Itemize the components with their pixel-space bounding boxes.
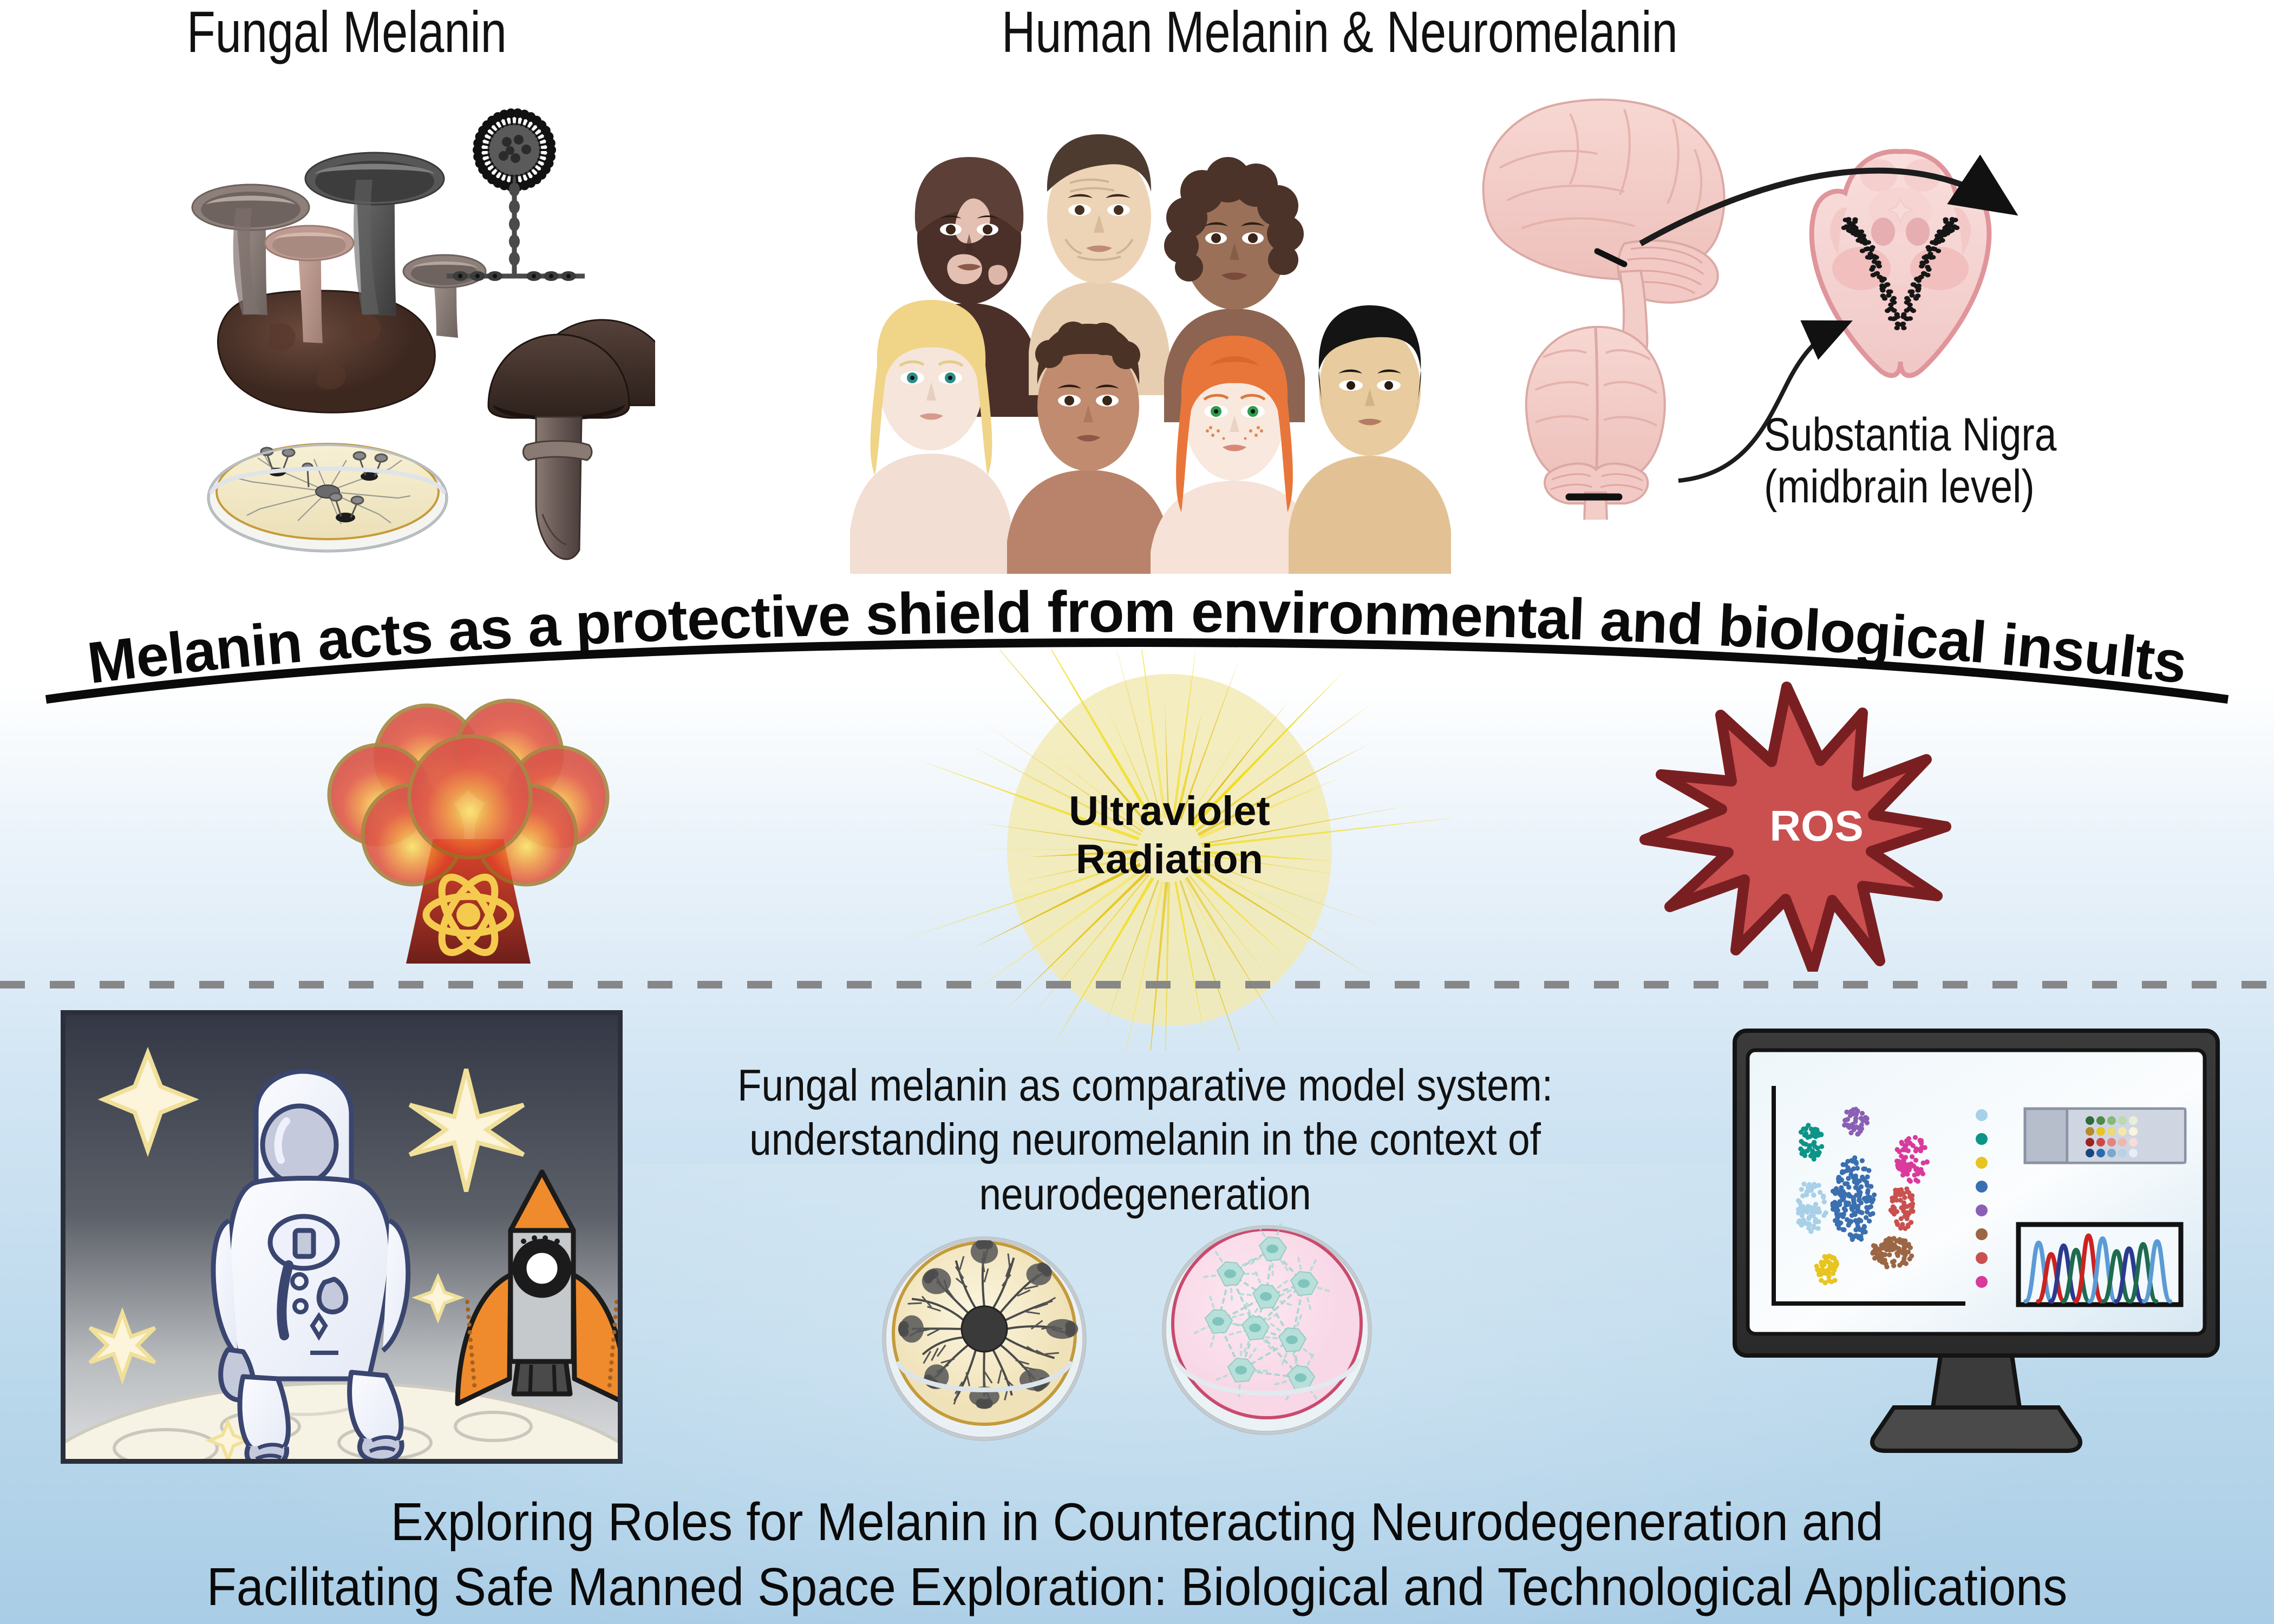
graphical-abstract: Substantia Nigra (midbrain level) Fungal… [0,0,2274,1624]
microarray-slide [2025,1109,2185,1163]
caption-line-3: neurodegeneration [685,1167,1605,1221]
caption-line-2: understanding neuromelanin in the contex… [685,1112,1605,1167]
conidiophore [447,109,585,281]
face-east-asian [1289,305,1451,574]
title-line-1: Exploring Roles for Melanin in Counterac… [91,1490,2183,1555]
section-divider [0,981,2274,988]
sn-line-1: Substantia Nigra [1764,409,2056,461]
middle-caption: Fungal melanin as comparative model syst… [685,1058,1605,1221]
neuron-culture-dish [1159,1215,1375,1443]
dark-mushroom [488,320,655,559]
brain-posterior-view [1526,327,1665,520]
caption-line-1: Fungal melanin as comparative model syst… [685,1058,1605,1112]
human-melanin-faces-illustration [807,81,1500,574]
fungal-petri-dish-top [208,444,447,551]
main-title: Exploring Roles for Melanin in Counterac… [91,1490,2183,1619]
astronaut-space-panel [61,1010,623,1464]
fungal-culture-dish [876,1226,1093,1443]
substantia-nigra-label: Substantia Nigra (midbrain level) [1764,409,2056,513]
chromatogram-panel [2018,1224,2181,1305]
reactive-oxygen-species-icon [1630,679,2003,972]
fungal-melanin-illustration [135,81,655,574]
heading-human-melanin: Human Melanin & Neuromelanin [1002,0,1678,66]
heading-fungal-melanin: Fungal Melanin [187,0,507,66]
sn-line-2: (midbrain level) [1764,461,2056,513]
ultraviolet-radiation-icon [888,650,1451,1050]
data-analysis-monitor [1733,1029,2220,1462]
nuclear-radiation-icon [303,677,639,969]
title-line-2: Facilitating Safe Manned Space Explorati… [91,1555,2183,1620]
